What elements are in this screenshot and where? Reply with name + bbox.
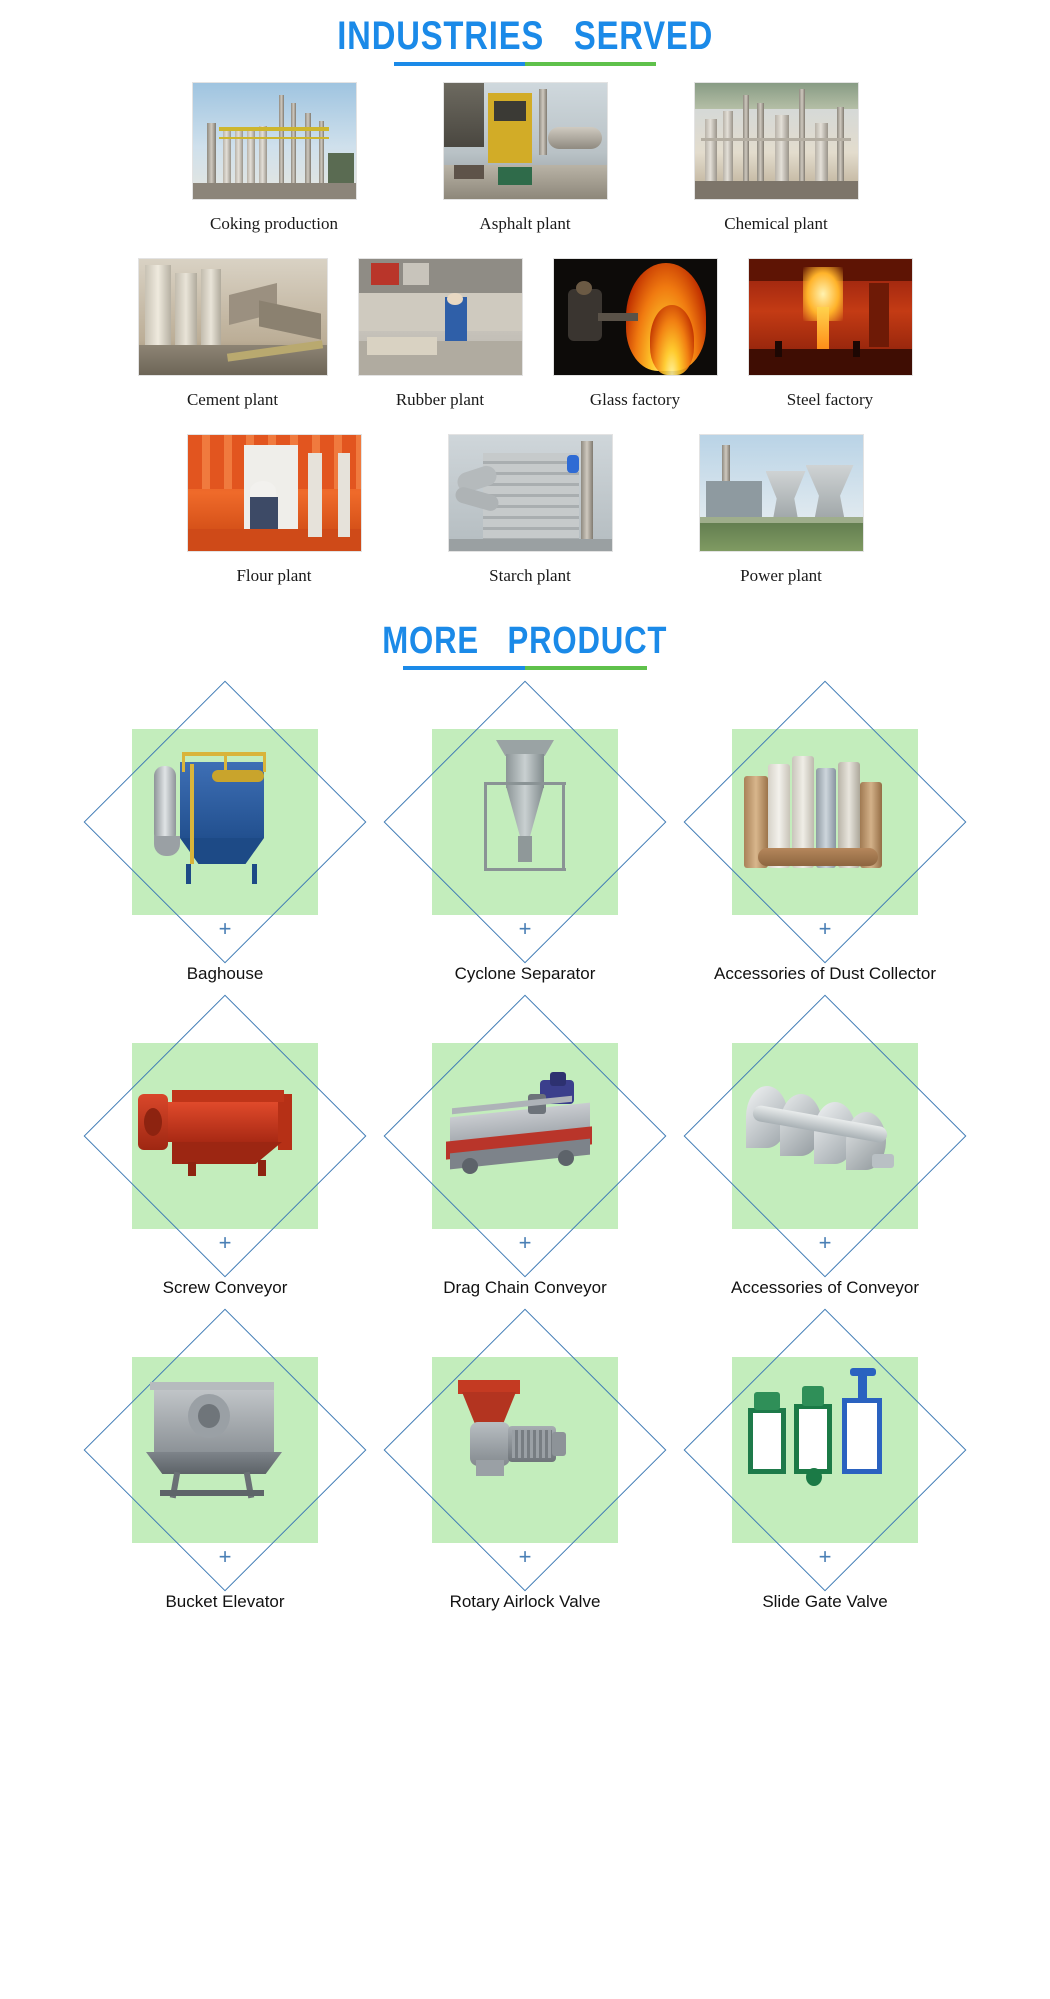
product-label: Screw Conveyor — [163, 1278, 288, 1298]
industries-title-underline — [394, 62, 656, 66]
glass-factory-photo — [553, 258, 718, 376]
product-card-dust-collector-accessories[interactable]: + Accessories of Dust Collector — [681, 678, 969, 984]
more-product-title-underline — [403, 666, 647, 670]
industry-label: Flour plant — [236, 566, 311, 586]
product-card-screw-conveyor[interactable]: + Screw Conveyor — [81, 992, 369, 1298]
product-diamond-frame: + — [381, 1306, 669, 1594]
product-diamond-frame: + — [681, 678, 969, 966]
product-label: Rotary Airlock Valve — [450, 1592, 601, 1612]
more-product-heading: MORE PRODUCT — [0, 620, 1050, 670]
underline-green-segment — [525, 666, 647, 670]
product-diamond-frame: + — [81, 992, 369, 1280]
industry-label: Steel factory — [787, 390, 873, 410]
rubber-plant-photo — [358, 258, 523, 376]
products-row-1: + Baghouse + Cyclone Sep — [12, 678, 1038, 984]
power-plant-photo — [699, 434, 864, 552]
product-diamond-frame: + — [681, 1306, 969, 1594]
industry-card-starch-plant[interactable]: Starch plant — [448, 434, 613, 586]
cement-plant-photo — [138, 258, 328, 376]
products-row-3: + Bucket Elevator + Rotary Airlock — [12, 1306, 1038, 1612]
product-diamond-frame: + — [681, 992, 969, 1280]
industry-card-steel-factory[interactable]: Steel factory — [748, 258, 913, 410]
product-card-rotary-airlock-valve[interactable]: + Rotary Airlock Valve — [381, 1306, 669, 1612]
product-card-cyclone-separator[interactable]: + Cyclone Separator — [381, 678, 669, 984]
product-label: Cyclone Separator — [455, 964, 596, 984]
more-product-title: MORE PRODUCT — [382, 620, 667, 662]
industry-label: Starch plant — [489, 566, 571, 586]
screw-conveyor-product-image — [132, 1050, 318, 1200]
dust-collector-accessories-product-image — [732, 736, 918, 886]
industry-card-glass-factory[interactable]: Glass factory — [553, 258, 718, 410]
expand-plus-icon[interactable]: + — [519, 918, 532, 940]
product-diamond-frame: + — [81, 1306, 369, 1594]
expand-plus-icon[interactable]: + — [519, 1546, 532, 1568]
expand-plus-icon[interactable]: + — [219, 918, 232, 940]
bucket-elevator-product-image — [132, 1364, 318, 1514]
industries-grid: Coking production Asphalt plant — [0, 82, 1050, 586]
product-card-conveyor-accessories[interactable]: + Accessories of Conveyor — [681, 992, 969, 1298]
conveyor-accessories-product-image — [732, 1050, 918, 1200]
flour-plant-photo — [187, 434, 362, 552]
industry-label: Asphalt plant — [479, 214, 570, 234]
baghouse-product-image — [132, 736, 318, 886]
starch-plant-photo — [448, 434, 613, 552]
industries-row-1: Coking production Asphalt plant — [14, 82, 1036, 234]
industry-card-asphalt-plant[interactable]: Asphalt plant — [443, 82, 608, 234]
industry-label: Cement plant — [187, 390, 278, 410]
product-label: Accessories of Dust Collector — [714, 964, 936, 984]
products-row-2: + Screw Conveyor + — [12, 992, 1038, 1298]
expand-plus-icon[interactable]: + — [819, 1232, 832, 1254]
steel-factory-photo — [748, 258, 913, 376]
industries-row-2: Cement plant Rubber plant — [14, 258, 1036, 410]
industry-card-rubber-plant[interactable]: Rubber plant — [358, 258, 523, 410]
slide-gate-valve-product-image — [732, 1364, 918, 1514]
underline-green-segment — [525, 62, 656, 66]
product-card-drag-chain-conveyor[interactable]: + Drag Chain Conveyor — [381, 992, 669, 1298]
product-label: Slide Gate Valve — [762, 1592, 887, 1612]
industry-label: Power plant — [740, 566, 822, 586]
industry-label: Glass factory — [590, 390, 680, 410]
chemical-plant-photo — [694, 82, 859, 200]
products-grid: + Baghouse + Cyclone Sep — [0, 678, 1050, 1612]
industries-served-title: INDUSTRIES SERVED — [337, 14, 713, 58]
product-diamond-frame: + — [381, 992, 669, 1280]
product-diamond-frame: + — [381, 678, 669, 966]
asphalt-plant-photo — [443, 82, 608, 200]
industry-card-power-plant[interactable]: Power plant — [699, 434, 864, 586]
industry-card-coking-production[interactable]: Coking production — [192, 82, 357, 234]
expand-plus-icon[interactable]: + — [819, 1546, 832, 1568]
industry-label: Coking production — [210, 214, 338, 234]
industry-card-cement-plant[interactable]: Cement plant — [138, 258, 328, 410]
rotary-airlock-valve-product-image — [432, 1364, 618, 1514]
product-card-bucket-elevator[interactable]: + Bucket Elevator — [81, 1306, 369, 1612]
industry-label: Chemical plant — [724, 214, 827, 234]
industry-card-flour-plant[interactable]: Flour plant — [187, 434, 362, 586]
industries-served-heading: INDUSTRIES SERVED — [0, 14, 1050, 66]
expand-plus-icon[interactable]: + — [219, 1546, 232, 1568]
product-label: Baghouse — [187, 964, 264, 984]
product-card-baghouse[interactable]: + Baghouse — [81, 678, 369, 984]
coking-plant-photo — [192, 82, 357, 200]
underline-blue-segment — [403, 666, 525, 670]
drag-chain-conveyor-product-image — [432, 1050, 618, 1200]
expand-plus-icon[interactable]: + — [819, 918, 832, 940]
product-label: Accessories of Conveyor — [731, 1278, 919, 1298]
underline-blue-segment — [394, 62, 525, 66]
expand-plus-icon[interactable]: + — [519, 1232, 532, 1254]
product-label: Drag Chain Conveyor — [443, 1278, 606, 1298]
product-diamond-frame: + — [81, 678, 369, 966]
product-card-slide-gate-valve[interactable]: + Slide Gate Valve — [681, 1306, 969, 1612]
product-label: Bucket Elevator — [165, 1592, 284, 1612]
industry-label: Rubber plant — [396, 390, 484, 410]
industries-row-3: Flour plant Starch plant — [14, 434, 1036, 586]
industry-card-chemical-plant[interactable]: Chemical plant — [694, 82, 859, 234]
expand-plus-icon[interactable]: + — [219, 1232, 232, 1254]
cyclone-separator-product-image — [432, 736, 618, 886]
